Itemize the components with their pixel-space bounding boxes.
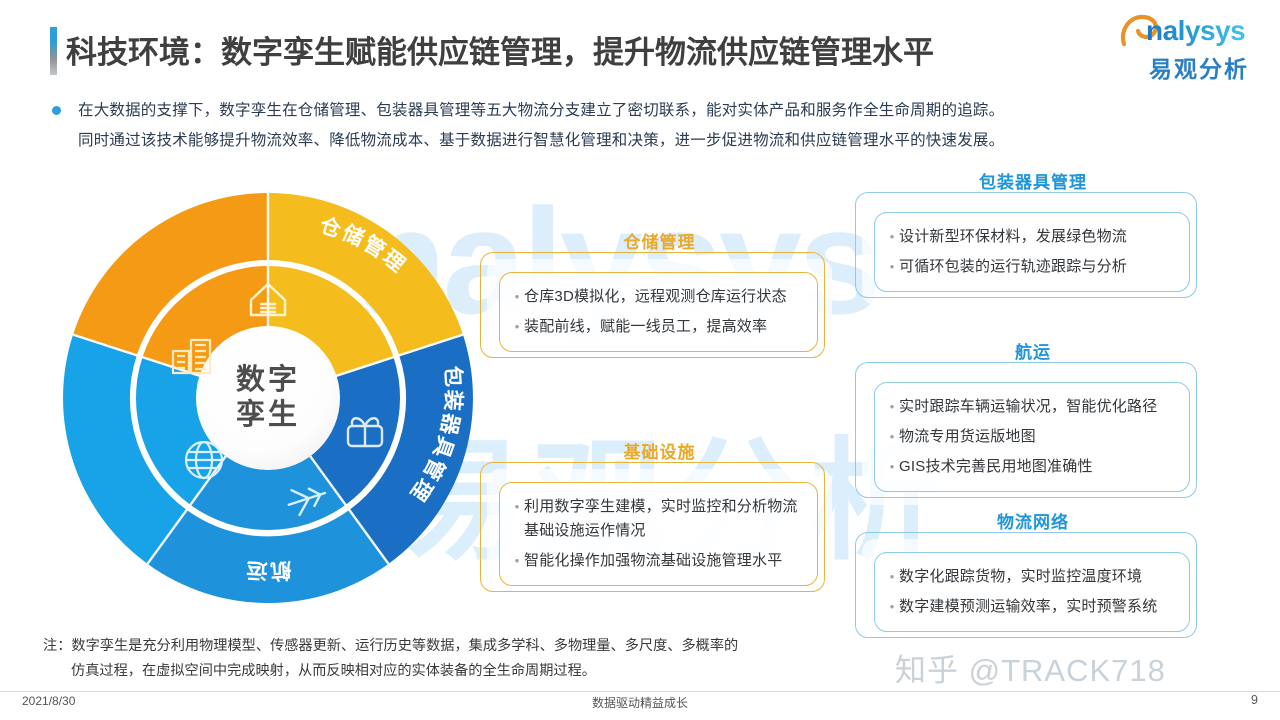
- card-title-logistics-network: 物流网络: [862, 508, 1204, 533]
- card-packaging: 包装器具管理 • 设计新型环保材料，发展绿色物流 • 可循环包装的运行轨迹跟踪与…: [862, 168, 1204, 305]
- bullet-text: 设计新型环保材料，发展绿色物流: [899, 225, 1127, 249]
- card-title-shipping: 航运: [862, 338, 1204, 363]
- watermark-zhihu: 知乎 @TRACK718: [895, 645, 1166, 690]
- card-inner-logistics-network: • 数字化跟踪货物，实时监控温度环境 • 数字建模预测运输效率，实时预警系统: [874, 552, 1190, 632]
- list-item: • 实时跟踪车辆运输状况，智能优化路径: [885, 395, 1177, 419]
- intro-bullet-dot: [52, 106, 61, 115]
- card-logistics-network: 物流网络 • 数字化跟踪货物，实时监控温度环境 • 数字建模预测运输效率，实时预…: [862, 508, 1204, 645]
- card-inner-warehouse: • 仓库3D模拟化，远程观测仓库运行状态 • 装配前线，赋能一线员工，提高效率: [499, 272, 818, 352]
- bullet-dot-icon: •: [885, 595, 899, 619]
- bullet-text: GIS技术完善民用地图准确性: [899, 455, 1093, 479]
- card-title-warehouse: 仓储管理: [487, 228, 832, 253]
- card-box-warehouse: • 仓库3D模拟化，远程观测仓库运行状态 • 装配前线，赋能一线员工，提高效率: [487, 259, 832, 365]
- footer-divider: [0, 691, 1280, 692]
- bullet-text: 可循环包装的运行轨迹跟踪与分析: [899, 255, 1127, 279]
- logo-wordmark: nalysys: [1146, 15, 1245, 47]
- list-item: • 数字化跟踪货物，实时监控温度环境: [885, 565, 1177, 589]
- bullet-text: 数字化跟踪货物，实时监控温度环境: [899, 565, 1142, 589]
- bullet-dot-icon: •: [885, 255, 899, 279]
- list-item: • 利用数字孪生建模，实时监控和分析物流基础设施运作情况: [510, 495, 805, 543]
- intro-line-1: 在大数据的支撑下，数字孪生在仓储管理、包装器具管理等五大物流分支建立了密切联系，…: [78, 96, 1232, 126]
- card-warehouse: 仓储管理 • 仓库3D模拟化，远程观测仓库运行状态 • 装配前线，赋能一线员工，…: [487, 228, 832, 365]
- list-item: • 物流专用货运版地图: [885, 425, 1177, 449]
- card-box-shipping: • 实时跟踪车辆运输状况，智能优化路径 • 物流专用货运版地图 • GIS技术完…: [862, 369, 1204, 505]
- bullet-dot-icon: •: [885, 565, 899, 589]
- bullet-dot-icon: •: [510, 285, 524, 309]
- footer-tagline: 数据驱动精益成长: [0, 694, 1280, 711]
- digital-twin-donut-chart: 仓储管理 包装器具管理 航运 物流网络 基础设施: [58, 188, 478, 608]
- list-item: • 可循环包装的运行轨迹跟踪与分析: [885, 255, 1177, 279]
- card-infrastructure: 基础设施 • 利用数字孪生建模，实时监控和分析物流基础设施运作情况 • 智能化操…: [487, 438, 832, 599]
- bullet-text: 利用数字孪生建模，实时监控和分析物流基础设施运作情况: [524, 495, 805, 543]
- footnote-line-1: 注：数字孪生是充分利用物理模型、传感器更新、运行历史等数据，集成多学科、多物理量…: [43, 634, 843, 659]
- card-box-infrastructure: • 利用数字孪生建模，实时监控和分析物流基础设施运作情况 • 智能化操作加强物流…: [487, 469, 832, 599]
- card-box-logistics-network: • 数字化跟踪货物，实时监控温度环境 • 数字建模预测运输效率，实时预警系统: [862, 539, 1204, 645]
- slide-root: nalysys 易观分析 科技环境：数字孪生赋能供应链管理，提升物流供应链管理水…: [0, 0, 1280, 720]
- footnote-text-1: 数字孪生是充分利用物理模型、传感器更新、运行历史等数据，集成多学科、多物理量、多…: [71, 638, 738, 654]
- bullet-dot-icon: •: [885, 425, 899, 449]
- list-item: • 智能化操作加强物流基础设施管理水平: [510, 549, 805, 573]
- bullet-dot-icon: •: [885, 225, 899, 249]
- intro-line-2: 同时通过该技术能够提升物流效率、降低物流成本、基于数据进行智慧化管理和决策，进一…: [78, 126, 1232, 156]
- list-item: • 仓库3D模拟化，远程观测仓库运行状态: [510, 285, 805, 309]
- bullet-text: 数字建模预测运输效率，实时预警系统: [899, 595, 1157, 619]
- card-inner-infrastructure: • 利用数字孪生建模，实时监控和分析物流基础设施运作情况 • 智能化操作加强物流…: [499, 482, 818, 586]
- bullet-text: 装配前线，赋能一线员工，提高效率: [524, 315, 767, 339]
- card-inner-shipping: • 实时跟踪车辆运输状况，智能优化路径 • 物流专用货运版地图 • GIS技术完…: [874, 382, 1190, 492]
- footer-page-number: 9: [1251, 693, 1258, 707]
- bullet-text: 智能化操作加强物流基础设施管理水平: [524, 549, 782, 573]
- card-shipping: 航运 • 实时跟踪车辆运输状况，智能优化路径 • 物流专用货运版地图 • GIS…: [862, 338, 1204, 505]
- card-title-packaging: 包装器具管理: [862, 168, 1204, 193]
- analysys-logo: nalysys 易观分析: [1118, 14, 1266, 80]
- bullet-dot-icon: •: [885, 455, 899, 479]
- intro-block: 在大数据的支撑下，数字孪生在仓储管理、包装器具管理等五大物流分支建立了密切联系，…: [52, 96, 1232, 156]
- card-title-infrastructure: 基础设施: [487, 438, 832, 463]
- page-title: 科技环境：数字孪生赋能供应链管理，提升物流供应链管理水平: [66, 27, 934, 72]
- title-accent-bar: [50, 27, 57, 75]
- list-item: • 数字建模预测运输效率，实时预警系统: [885, 595, 1177, 619]
- card-inner-packaging: • 设计新型环保材料，发展绿色物流 • 可循环包装的运行轨迹跟踪与分析: [874, 212, 1190, 292]
- logo-wordmark-cn: 易观分析: [1149, 50, 1249, 84]
- list-item: • GIS技术完善民用地图准确性: [885, 455, 1177, 479]
- bullet-text: 物流专用货运版地图: [899, 425, 1036, 449]
- footnote-line-2: 仿真过程，在虚拟空间中完成映射，从而反映相对应的实体装备的全生命周期过程。: [71, 659, 843, 684]
- footnote: 注：数字孪生是充分利用物理模型、传感器更新、运行历史等数据，集成多学科、多物理量…: [43, 634, 843, 684]
- bullet-dot-icon: •: [510, 315, 524, 339]
- bullet-text: 仓库3D模拟化，远程观测仓库运行状态: [524, 285, 787, 309]
- list-item: • 设计新型环保材料，发展绿色物流: [885, 225, 1177, 249]
- bullet-dot-icon: •: [510, 549, 524, 573]
- bullet-dot-icon: •: [885, 395, 899, 419]
- bullet-dot-icon: •: [510, 495, 524, 519]
- list-item: • 装配前线，赋能一线员工，提高效率: [510, 315, 805, 339]
- bullet-text: 实时跟踪车辆运输状况，智能优化路径: [899, 395, 1157, 419]
- card-box-packaging: • 设计新型环保材料，发展绿色物流 • 可循环包装的运行轨迹跟踪与分析: [862, 199, 1204, 305]
- footnote-label: 注：: [43, 638, 71, 654]
